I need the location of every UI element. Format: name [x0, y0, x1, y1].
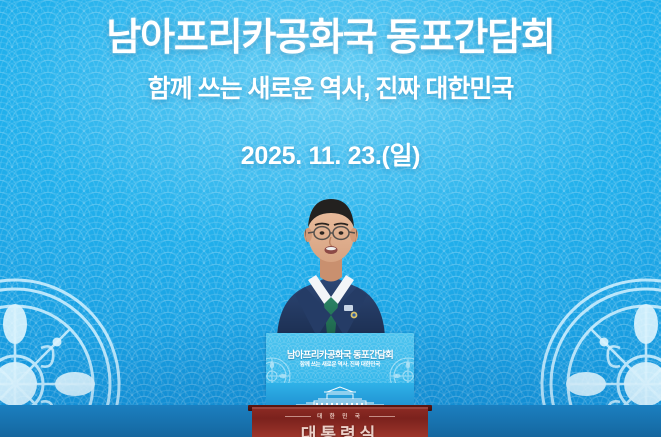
podium-nation-label: 대 한 민 국: [252, 412, 428, 420]
podium-body: 대 한 민 국 대통령실: [252, 407, 428, 437]
event-subtitle: 함께 쓰는 새로운 역사, 진짜 대한민국: [0, 74, 661, 104]
event-title: 남아프리카공화국 동포간담회: [0, 16, 661, 61]
podium: 남아프리카공화국 동포간담회 함께 쓰는 새로운 역사, 진짜 대한민국: [0, 325, 661, 437]
podium-office-label: 대통령실: [252, 420, 428, 437]
event-date: 2025. 11. 23.(일): [0, 136, 661, 172]
headline-block: 남아프리카공화국 동포간담회 함께 쓰는 새로운 역사, 진짜 대한민국 202…: [0, 16, 661, 172]
event-backdrop-scene: 남아프리카공화국 동포간담회 함께 쓰는 새로운 역사, 진짜 대한민국 202…: [0, 0, 661, 437]
podium-banner-subtitle: 함께 쓰는 새로운 역사, 진짜 대한민국: [266, 360, 414, 368]
podium-banner-title: 남아프리카공화국 동포간담회: [266, 347, 414, 361]
